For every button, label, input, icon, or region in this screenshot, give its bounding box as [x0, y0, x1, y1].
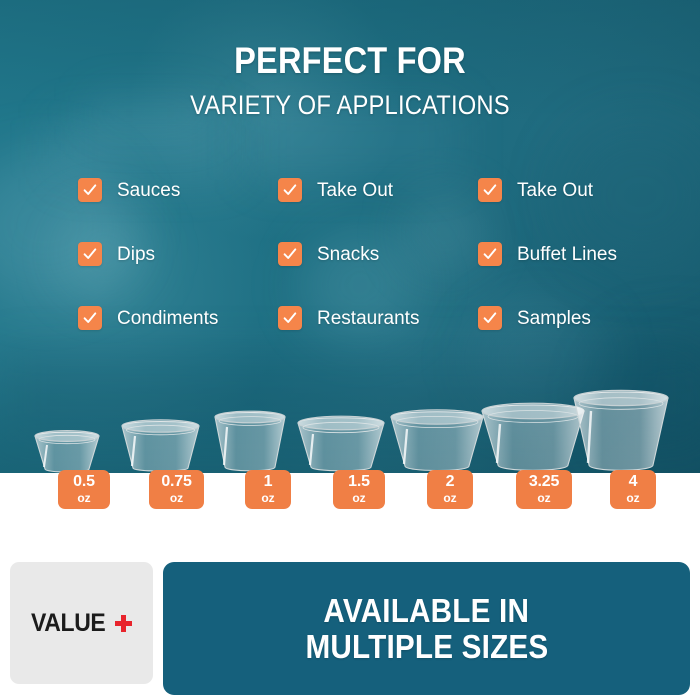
checklist-item[interactable]: Take Out	[278, 178, 478, 202]
checklist-item-label: Buffet Lines	[517, 245, 617, 264]
footer-banner: VALUE AVAILABLE IN MULTIPLE SIZES	[0, 557, 700, 700]
portion-cup-2oz	[387, 406, 487, 474]
checklist-item-label: Restaurants	[317, 309, 419, 328]
checklist-item-label: Take Out	[317, 181, 393, 200]
check-mark-icon	[478, 242, 502, 266]
brand-logo: VALUE	[31, 609, 132, 638]
checklist-item-label: Dips	[117, 245, 155, 264]
portion-cup-1.5oz	[294, 412, 388, 474]
banner-line-1: AVAILABLE IN	[324, 593, 530, 629]
check-mark-icon	[478, 306, 502, 330]
portion-cup-0.5oz	[31, 427, 103, 474]
check-mark-icon	[278, 306, 302, 330]
page-subtitle: VARIETY OF APPLICATIONS	[42, 92, 658, 119]
checklist-item[interactable]: Take Out	[478, 178, 634, 202]
checklist-item-label: Condiments	[117, 309, 218, 328]
check-mark-icon	[78, 178, 102, 202]
checklist-item[interactable]: Buffet Lines	[478, 242, 634, 266]
page-title: PERFECT FOR	[42, 42, 658, 79]
checklist-item[interactable]: Dips	[78, 242, 278, 266]
applications-checklist: Sauces Take Out Take Out Dips Snacks Buf…	[0, 178, 700, 330]
checklist-item-label: Take Out	[517, 181, 593, 200]
checklist-item-label: Sauces	[117, 181, 180, 200]
brand-logo-panel: VALUE	[10, 562, 153, 684]
availability-banner: AVAILABLE IN MULTIPLE SIZES	[163, 562, 690, 695]
checklist-item[interactable]: Sauces	[78, 178, 278, 202]
portion-cup-4oz	[570, 386, 672, 474]
portion-cups-row	[0, 400, 700, 560]
plus-icon	[115, 615, 132, 632]
checklist-item[interactable]: Condiments	[78, 306, 278, 330]
checklist-item[interactable]: Snacks	[278, 242, 478, 266]
checklist-item[interactable]: Restaurants	[278, 306, 478, 330]
checklist-item[interactable]: Samples	[478, 306, 634, 330]
check-mark-icon	[278, 178, 302, 202]
check-mark-icon	[478, 178, 502, 202]
checklist-item-label: Snacks	[317, 245, 379, 264]
hero-headings: PERFECT FOR VARIETY OF APPLICATIONS	[0, 42, 700, 119]
check-mark-icon	[78, 306, 102, 330]
banner-line-2: MULTIPLE SIZES	[305, 629, 548, 665]
brand-logo-text: VALUE	[31, 609, 105, 638]
checklist-item-label: Samples	[517, 309, 591, 328]
check-mark-icon	[78, 242, 102, 266]
check-mark-icon	[278, 242, 302, 266]
portion-cup-0.75oz	[118, 416, 203, 474]
portion-cup-1oz	[211, 407, 289, 474]
